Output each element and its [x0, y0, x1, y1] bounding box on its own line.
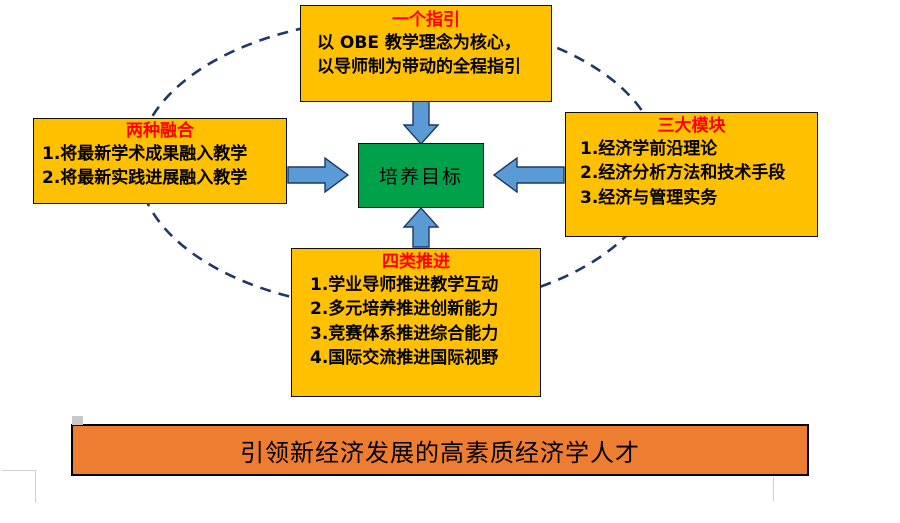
box-four-advancements-line-2: 2.多元培养推进创新能力 — [310, 297, 498, 321]
page-guide-vertical-right — [773, 477, 774, 501]
box-two-integrations-line-1: 1.将最新学术成果融入教学 — [42, 142, 247, 166]
box-one-guidance-line-1: 以 OBE 教学理念为核心， — [317, 31, 521, 55]
box-one-guidance[interactable]: 一个指引 以 OBE 教学理念为核心， 以导师制为带动的全程指引 — [300, 5, 552, 102]
box-training-goal[interactable]: 培养目标 — [358, 143, 484, 208]
box-two-integrations[interactable]: 两种融合 1.将最新学术成果融入教学 2.将最新实践进展融入教学 — [33, 118, 287, 204]
box-three-modules-line-2: 2.经济分析方法和技术手段 — [580, 161, 785, 185]
box-two-integrations-line-2: 2.将最新实践进展融入教学 — [42, 166, 247, 190]
box-three-modules-line-1: 1.经济学前沿理论 — [580, 137, 717, 161]
box-three-modules[interactable]: 三大模块 1.经济学前沿理论 2.经济分析方法和技术手段 3.经济与管理实务 — [565, 112, 818, 237]
box-three-modules-line-3: 3.经济与管理实务 — [580, 186, 717, 210]
box-four-advancements-line-1: 1.学业导师推进教学互动 — [310, 273, 498, 297]
page-marker-square — [72, 416, 83, 425]
arrow-top-down — [404, 101, 438, 144]
arrow-bottom-up — [404, 208, 438, 247]
box-four-advancements-line-3: 3.竞赛体系推进综合能力 — [310, 322, 498, 346]
page-guide-horizontal — [2, 470, 36, 471]
arrow-right-left — [494, 158, 564, 192]
diagram-canvas: 一个指引 以 OBE 教学理念为核心， 以导师制为带动的全程指引 两种融合 1.… — [0, 0, 900, 523]
page-guide-vertical-left — [35, 470, 36, 503]
box-training-goal-label: 培养目标 — [379, 162, 463, 189]
box-four-advancements[interactable]: 四类推进 1.学业导师推进教学互动 2.多元培养推进创新能力 3.竞赛体系推进综… — [291, 248, 541, 397]
box-three-modules-title: 三大模块 — [658, 116, 726, 137]
box-two-integrations-title: 两种融合 — [126, 121, 194, 142]
box-four-advancements-line-4: 4.国际交流推进国际视野 — [310, 346, 498, 370]
box-one-guidance-title: 一个指引 — [392, 10, 460, 31]
arrow-left-right — [288, 158, 348, 192]
box-four-advancements-title: 四类推进 — [382, 252, 450, 273]
box-one-guidance-line-2: 以导师制为带动的全程指引 — [317, 55, 521, 79]
outcome-banner-text: 引领新经济发展的高素质经济学人才 — [240, 433, 640, 468]
outcome-banner[interactable]: 引领新经济发展的高素质经济学人才 — [71, 424, 809, 476]
